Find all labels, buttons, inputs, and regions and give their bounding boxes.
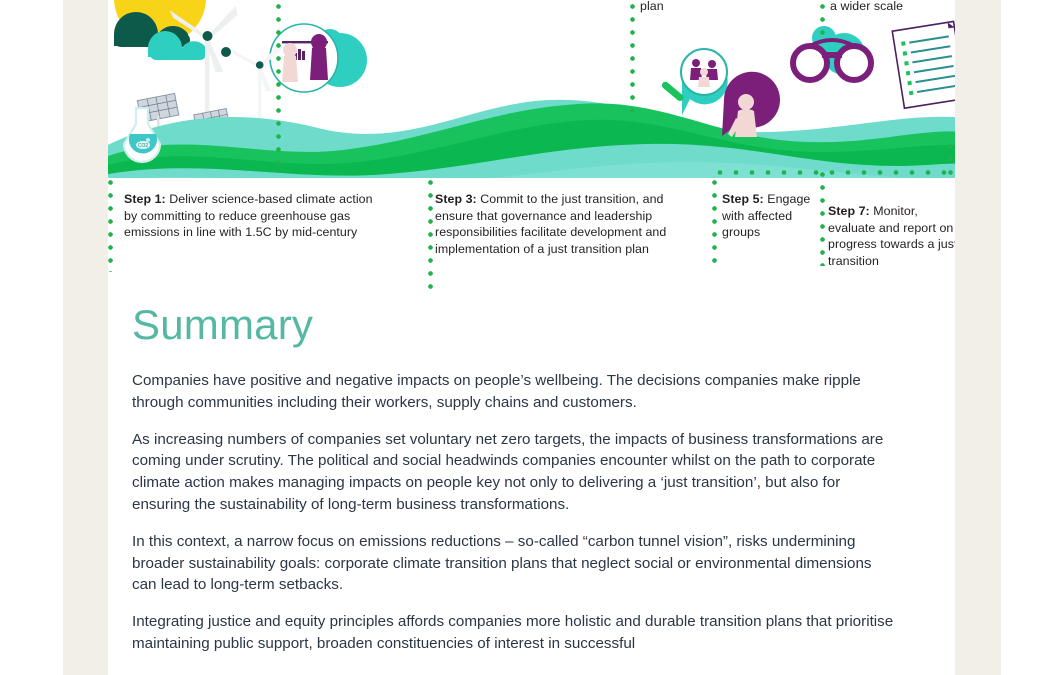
- summary-paragraph-3: In this context, a narrow focus on emiss…: [132, 531, 894, 596]
- step-4-fragment-text: plan: [640, 0, 664, 13]
- svg-text:CO2: CO2: [138, 143, 149, 149]
- step-3-label: Step 3:: [435, 192, 477, 206]
- page-gutter-right: [955, 0, 1001, 675]
- checklist-clipboard-icon: [892, 21, 955, 108]
- page-title: Summary: [132, 300, 932, 350]
- summary-paragraph-1: Companies have positive and negative imp…: [132, 370, 894, 414]
- summary-paragraph-2: As increasing numbers of companies set v…: [132, 429, 894, 516]
- presentation-chart-icon: [270, 24, 367, 92]
- binoculars-icon: [793, 26, 871, 80]
- connector-dots-step7: [820, 168, 825, 266]
- summary-section: Summary Companies have positive and nega…: [132, 300, 932, 670]
- step-5-label: Step 5:: [722, 192, 764, 206]
- step-6-fragment: a wider scale: [830, 0, 903, 15]
- connector-dots-step5: [712, 176, 717, 266]
- connector-dots-step6: [820, 0, 825, 40]
- step-caption-5: Step 5: Engage with affected groups: [722, 191, 814, 241]
- person-speech-icon: [722, 72, 780, 137]
- connector-dots-step1: [108, 176, 113, 272]
- step-caption-1: Step 1: Deliver science-based climate ac…: [124, 191, 384, 241]
- step-6-fragment-text: a wider scale: [830, 0, 903, 13]
- landscape-hills: [108, 100, 955, 178]
- connector-dots-horizontal: [712, 170, 952, 175]
- step-caption-3: Step 3: Commit to the just transition, a…: [435, 191, 685, 257]
- step-7-label: Step 7:: [828, 204, 870, 218]
- document-page: CO2: [108, 0, 955, 675]
- magnifier-people-icon: [660, 49, 727, 115]
- step-caption-7: Step 7: Monitor, evaluate and report on …: [828, 203, 955, 269]
- document-viewer: CO2: [0, 0, 1058, 675]
- step-1-label: Step 1:: [124, 192, 166, 206]
- connector-dots-step2: [276, 0, 281, 168]
- infographic-illustration: CO2: [108, 0, 955, 178]
- summary-paragraph-4: Integrating justice and equity principle…: [132, 611, 894, 655]
- step-4-fragment: plan: [640, 0, 664, 15]
- page-gutter-left: [63, 0, 109, 675]
- connector-dots-step7b: [948, 140, 953, 176]
- connector-dots-step4: [630, 0, 635, 118]
- connector-dots-step3: [428, 176, 433, 294]
